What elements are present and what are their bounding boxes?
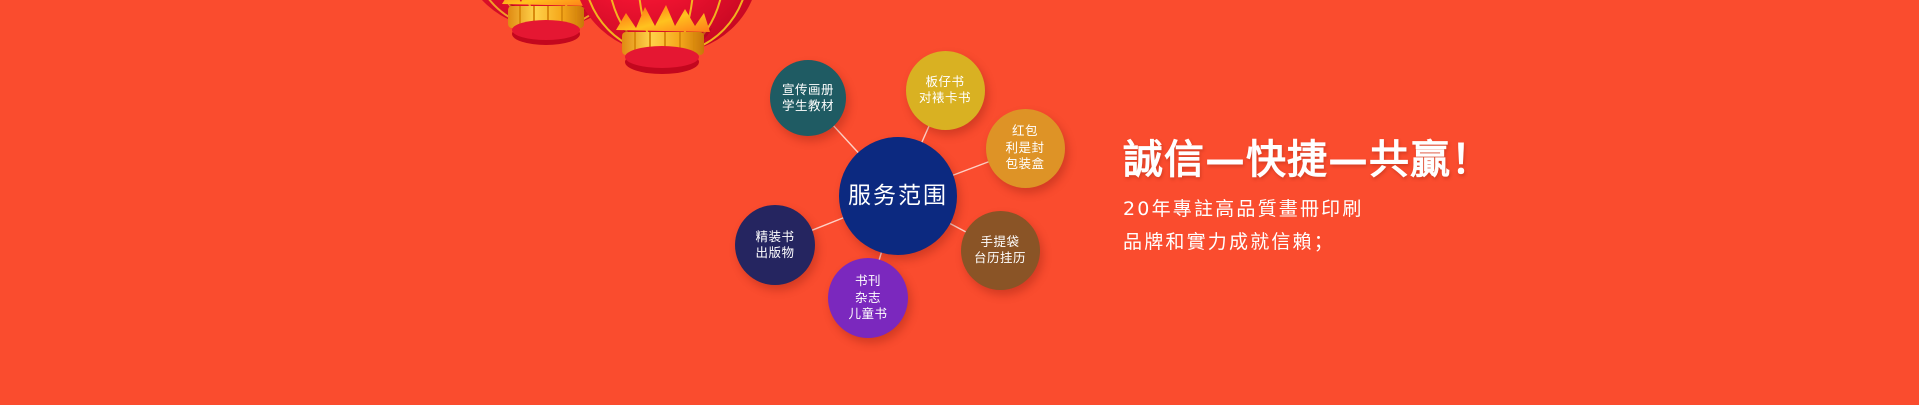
bubble-red-envelopes[interactable]: 红包 利是封 包装盒 (986, 109, 1065, 188)
bubble-red-envelopes-line-3: 包装盒 (1005, 156, 1044, 173)
slogan-subline-1: 20年專註高品質畫冊印刷 (1123, 194, 1492, 225)
bubble-red-envelopes-line-1: 红包 (1012, 123, 1038, 140)
bubble-board-books-line-1: 板仔书 (925, 74, 964, 91)
bubble-magazines-line-3: 儿童书 (848, 306, 887, 323)
service-scope-diagram: 服务范围 宣传画册 学生教材 板仔书 对裱卡书 红包 利是封 包装盒 手提袋 台… (0, 0, 1919, 405)
bubble-service-scope-label: 服务范围 (848, 181, 948, 211)
bubble-hardcover[interactable]: 精装书 出版物 (735, 205, 815, 285)
bubble-promo-materials[interactable]: 宣传画册 学生教材 (770, 60, 846, 136)
bubble-hardcover-line-2: 出版物 (755, 245, 794, 262)
bubble-promo-materials-line-2: 学生教材 (782, 98, 834, 115)
bubble-magazines-line-2: 杂志 (855, 290, 881, 307)
bubble-board-books-line-2: 对裱卡书 (919, 90, 971, 107)
bubble-magazines[interactable]: 书刊 杂志 儿童书 (828, 258, 908, 338)
slogan-block: 誠信—快捷—共贏！ 20年專註高品質畫冊印刷 品牌和實力成就信賴； (1123, 140, 1492, 258)
slogan-heading: 誠信—快捷—共贏！ (1123, 140, 1492, 180)
bubble-bags-calendars-line-1: 手提袋 (980, 234, 1019, 251)
slogan-subline-2: 品牌和實力成就信賴； (1123, 227, 1492, 258)
promo-banner: 服务范围 宣传画册 学生教材 板仔书 对裱卡书 红包 利是封 包装盒 手提袋 台… (0, 0, 1919, 405)
bubble-bags-calendars[interactable]: 手提袋 台历挂历 (961, 211, 1040, 290)
bubble-service-scope[interactable]: 服务范围 (839, 137, 957, 255)
bubble-board-books[interactable]: 板仔书 对裱卡书 (906, 51, 985, 130)
bubble-magazines-line-1: 书刊 (855, 273, 881, 290)
bubble-bags-calendars-line-2: 台历挂历 (974, 250, 1026, 267)
bubble-hardcover-line-1: 精装书 (755, 229, 794, 246)
bubble-promo-materials-line-1: 宣传画册 (782, 82, 834, 99)
bubble-red-envelopes-line-2: 利是封 (1005, 140, 1044, 157)
